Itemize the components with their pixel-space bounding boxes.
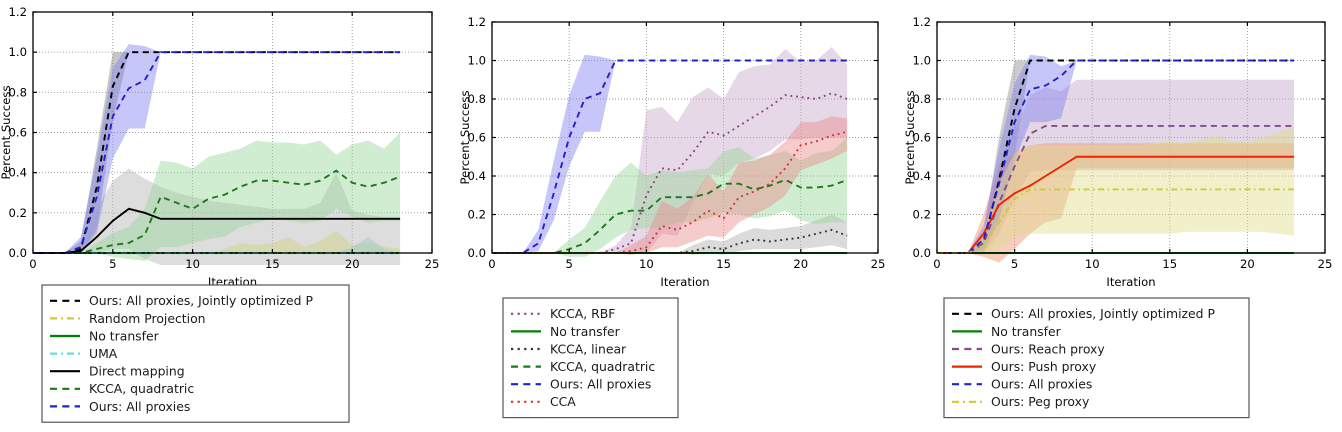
x-axis-label: Iteration (1106, 275, 1155, 289)
legend-label: No transfer (89, 328, 160, 343)
legend-label: No transfer (991, 324, 1062, 339)
x-tick-label: 25 (425, 257, 440, 271)
y-tick-label: 0.0 (468, 246, 486, 260)
legend-label: UMA (89, 346, 118, 361)
x-tick-label: 10 (185, 257, 200, 271)
y-tick-label: 0.2 (9, 206, 27, 220)
legend-label: KCCA, RBF (550, 306, 615, 321)
y-axis-label: Percent Success (903, 91, 917, 185)
y-axis-label: Percent Success (0, 86, 13, 180)
x-tick-label: 25 (871, 257, 886, 271)
legend-label: Direct mapping (89, 364, 185, 379)
y-tick-label: 0.0 (913, 246, 931, 260)
x-tick-label: 10 (639, 257, 654, 271)
legend: Ours: All proxies, Jointly optimized PNo… (944, 298, 1249, 418)
x-tick-label: 20 (793, 257, 808, 271)
x-tick-label: 15 (716, 257, 731, 271)
legend-label: Ours: All proxies (550, 377, 651, 392)
legend: Ours: All proxies, Jointly optimized PRa… (42, 285, 349, 422)
legend-label: Ours: Push proxy (991, 359, 1096, 374)
y-tick-label: 1.0 (913, 54, 931, 68)
x-tick-label: 20 (1240, 257, 1255, 271)
chart-svg-3: 0.00.20.40.60.81.01.20510152025Iteration… (896, 0, 1342, 432)
legend: KCCA, RBFNo transferKCCA, linearKCCA, qu… (503, 298, 678, 418)
legend-label: KCCA, quadratric (550, 359, 655, 374)
chart-panel-3: 0.00.20.40.60.81.01.20510152025Iteration… (896, 0, 1342, 432)
figure-root: 0.00.20.40.60.81.01.20510152025Iteration… (0, 0, 1342, 432)
x-axis-label: Iteration (660, 275, 709, 289)
x-tick-label: 5 (109, 257, 116, 271)
legend-label: Ours: All proxies, Jointly optimized P (89, 293, 313, 308)
chart-panel-1: 0.00.20.40.60.81.01.20510152025Iteration… (0, 0, 450, 432)
x-tick-label: 15 (1162, 257, 1177, 271)
chart-panel-2: 0.00.20.40.60.81.01.20510152025Iteration… (450, 0, 896, 432)
legend-label: CCA (550, 394, 576, 409)
x-tick-label: 10 (1085, 257, 1100, 271)
x-tick-label: 15 (265, 257, 280, 271)
x-tick-label: 0 (29, 257, 36, 271)
x-tick-label: 0 (933, 257, 940, 271)
chart-svg-2: 0.00.20.40.60.81.01.20510152025Iteration… (450, 0, 896, 432)
x-tick-label: 25 (1318, 257, 1333, 271)
legend-label: KCCA, linear (550, 341, 627, 356)
y-tick-label: 1.0 (468, 54, 486, 68)
y-tick-label: 1.2 (913, 15, 931, 29)
x-tick-label: 0 (488, 257, 495, 271)
legend-label: Ours: All proxies, Jointly optimized P (991, 306, 1215, 321)
y-tick-label: 0.2 (468, 208, 486, 222)
legend-label: Ours: All proxies (991, 377, 1092, 392)
legend-label: Ours: Peg proxy (991, 394, 1089, 409)
x-tick-label: 5 (1011, 257, 1018, 271)
x-tick-label: 20 (345, 257, 360, 271)
y-tick-label: 1.2 (468, 15, 486, 29)
y-tick-label: 1.0 (9, 45, 27, 59)
y-tick-label: 0.2 (913, 208, 931, 222)
y-axis-label: Percent Success (458, 91, 472, 185)
y-tick-label: 0.0 (9, 246, 27, 260)
chart-svg-1: 0.00.20.40.60.81.01.20510152025Iteration… (0, 0, 450, 432)
legend-label: No transfer (550, 324, 621, 339)
y-tick-label: 1.2 (9, 5, 27, 19)
legend-label: Ours: Reach proxy (991, 341, 1105, 356)
legend-label: Ours: All proxies (89, 399, 190, 414)
x-tick-label: 5 (566, 257, 573, 271)
legend-label: KCCA, quadratric (89, 381, 194, 396)
legend-label: Random Projection (89, 311, 206, 326)
